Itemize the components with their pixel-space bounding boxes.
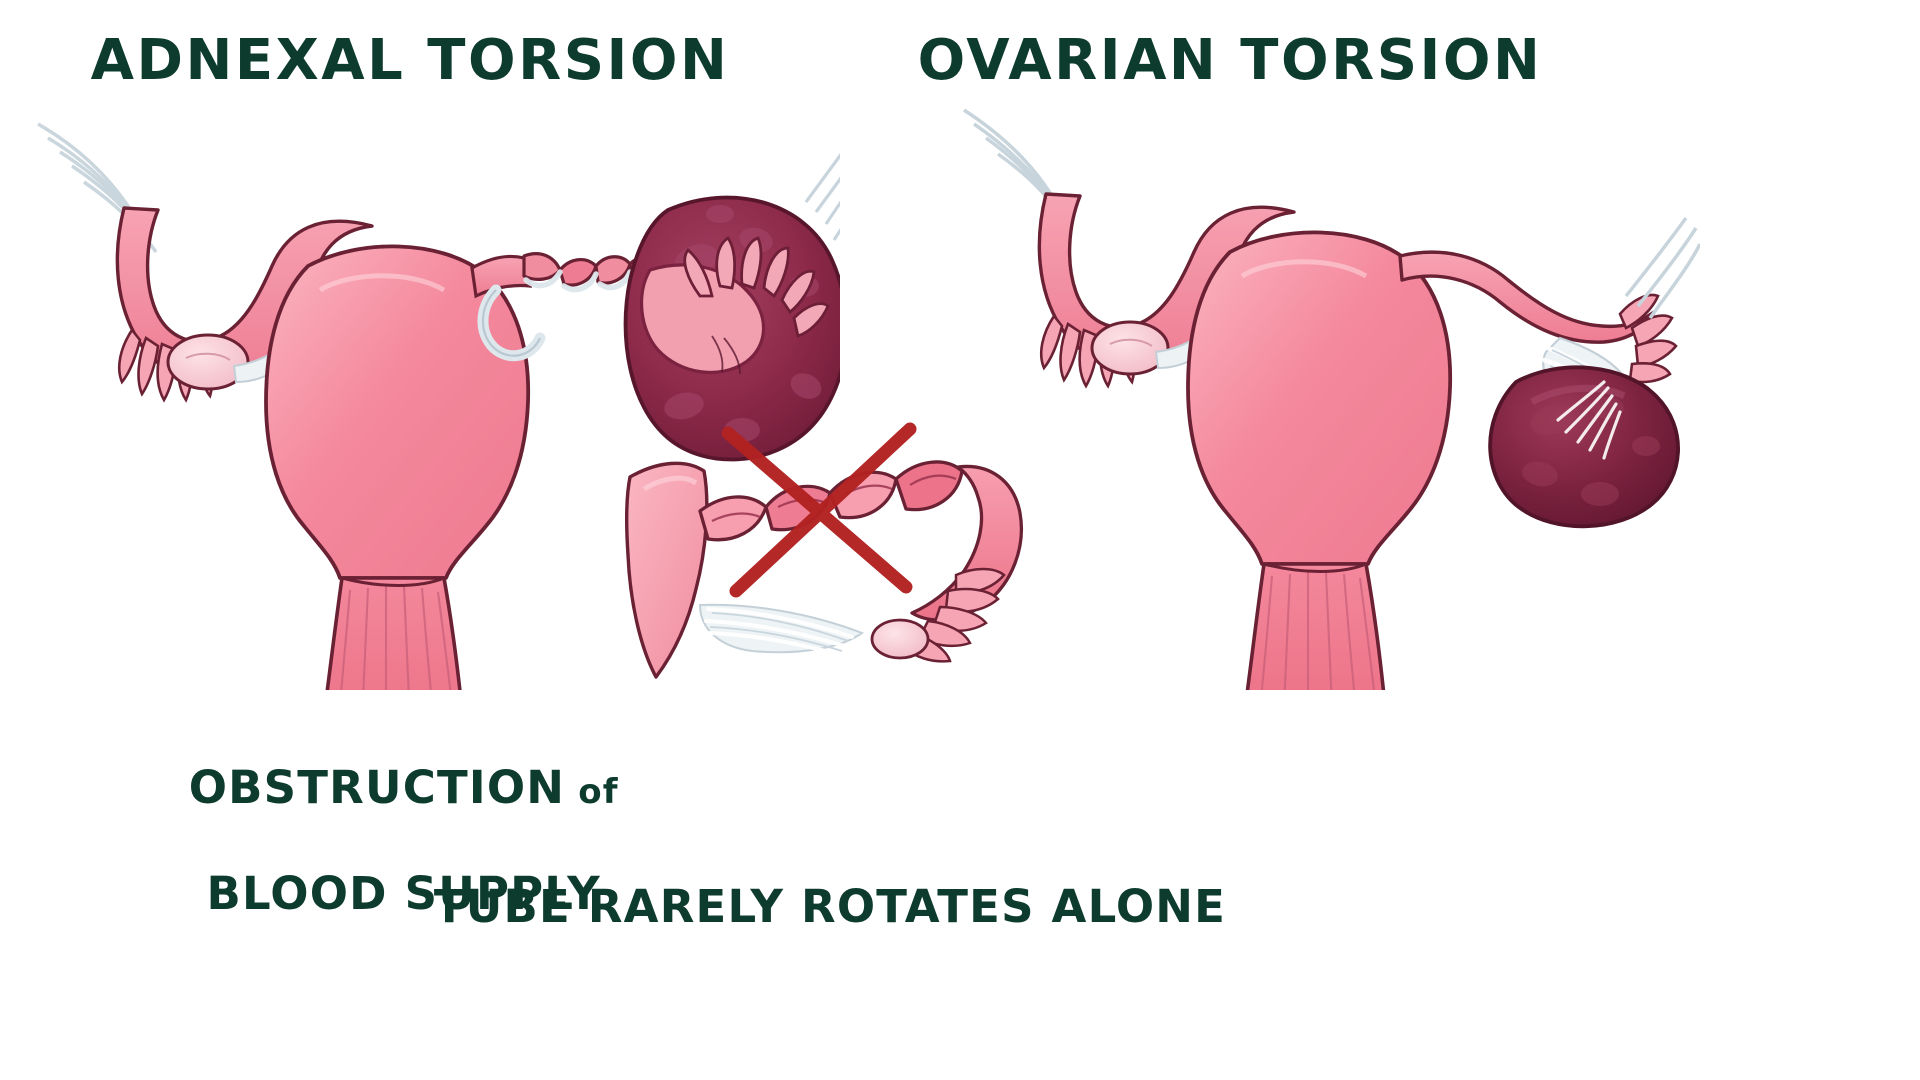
cervix	[1244, 564, 1386, 690]
left-ovary-normal	[1092, 322, 1168, 374]
caption-left-connector: of	[565, 772, 619, 812]
uterus-body	[1188, 232, 1450, 564]
ischemic-adnexa	[626, 128, 840, 460]
torsed-ischemic-ovary	[1490, 367, 1678, 526]
caption-left-line1: OBSTRUCTION	[189, 761, 565, 814]
mesosalpinx	[700, 605, 862, 655]
title-adnexal-torsion: ADNEXAL TORSION	[60, 32, 760, 91]
uterine-cornu	[627, 463, 707, 677]
caption-obstruction-of-blood-supply: OBSTRUCTION of BLOOD SUPPLY	[90, 708, 650, 973]
title-ovarian-torsion: OVARIAN TORSION	[880, 32, 1580, 91]
caption-tube-rarely-rotates-alone: TUBE RARELY ROTATES ALONE	[420, 880, 1240, 933]
ovary-nub	[872, 620, 928, 658]
illustration-canvas: ADNEXAL TORSION OVARIAN TORSION	[0, 0, 1920, 1080]
isolated-tube-torsion-diagram	[600, 415, 1100, 745]
